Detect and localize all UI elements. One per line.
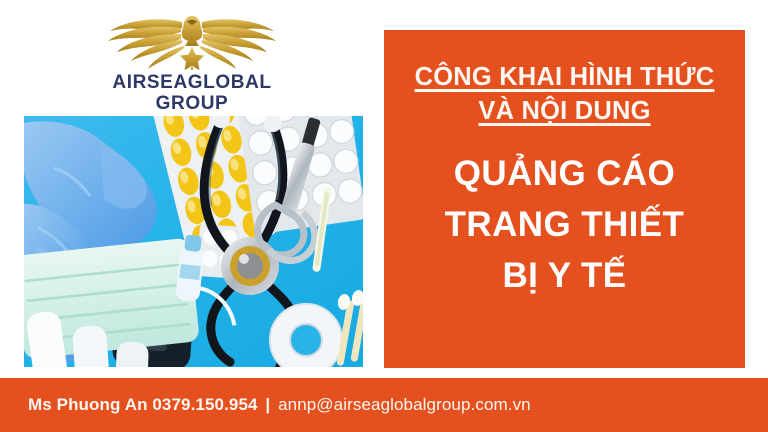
title-line-1: QUẢNG CÁO [454, 156, 675, 193]
headline-line-2: VÀ NỘI DUNG [478, 96, 650, 126]
stethoscope-chestpiece [221, 237, 279, 295]
medical-equipment-flatlay-photo [24, 116, 363, 367]
photo-artwork [24, 116, 363, 367]
brand-wordmark: AIRSEAGLOBAL GROUP [88, 72, 296, 115]
wordmark-line-1: AIRSEAGLOBAL [112, 72, 271, 93]
medical-tape-roll-item [270, 304, 342, 367]
brand-logo: AIRSEAGLOBAL GROUP [88, 8, 296, 108]
banner-canvas: AIRSEAGLOBAL GROUP [0, 0, 768, 432]
contact-email[interactable]: annp@airseaglobalgroup.com.vn [278, 395, 531, 414]
title-line-3: BỊ Y TẾ [502, 258, 626, 295]
contact-footer-bar: Ms Phuong An 0379.150.954 | annp@airseag… [0, 378, 768, 432]
contact-name-phone: Ms Phuong An 0379.150.954 [28, 395, 258, 414]
wordmark-line-2: GROUP [88, 93, 296, 114]
headline-line-1: CÔNG KHAI HÌNH THỨC [415, 62, 715, 92]
title-line-2: TRANG THIẾT [445, 207, 685, 244]
footer-contact-text: Ms Phuong An 0379.150.954 | annp@airseag… [28, 395, 531, 415]
headline-panel: CÔNG KHAI HÌNH THỨC VÀ NỘI DUNG QUẢNG CÁ… [384, 30, 745, 368]
eagle-wings-star-emblem-icon [88, 8, 296, 70]
footer-separator: | [262, 395, 273, 414]
